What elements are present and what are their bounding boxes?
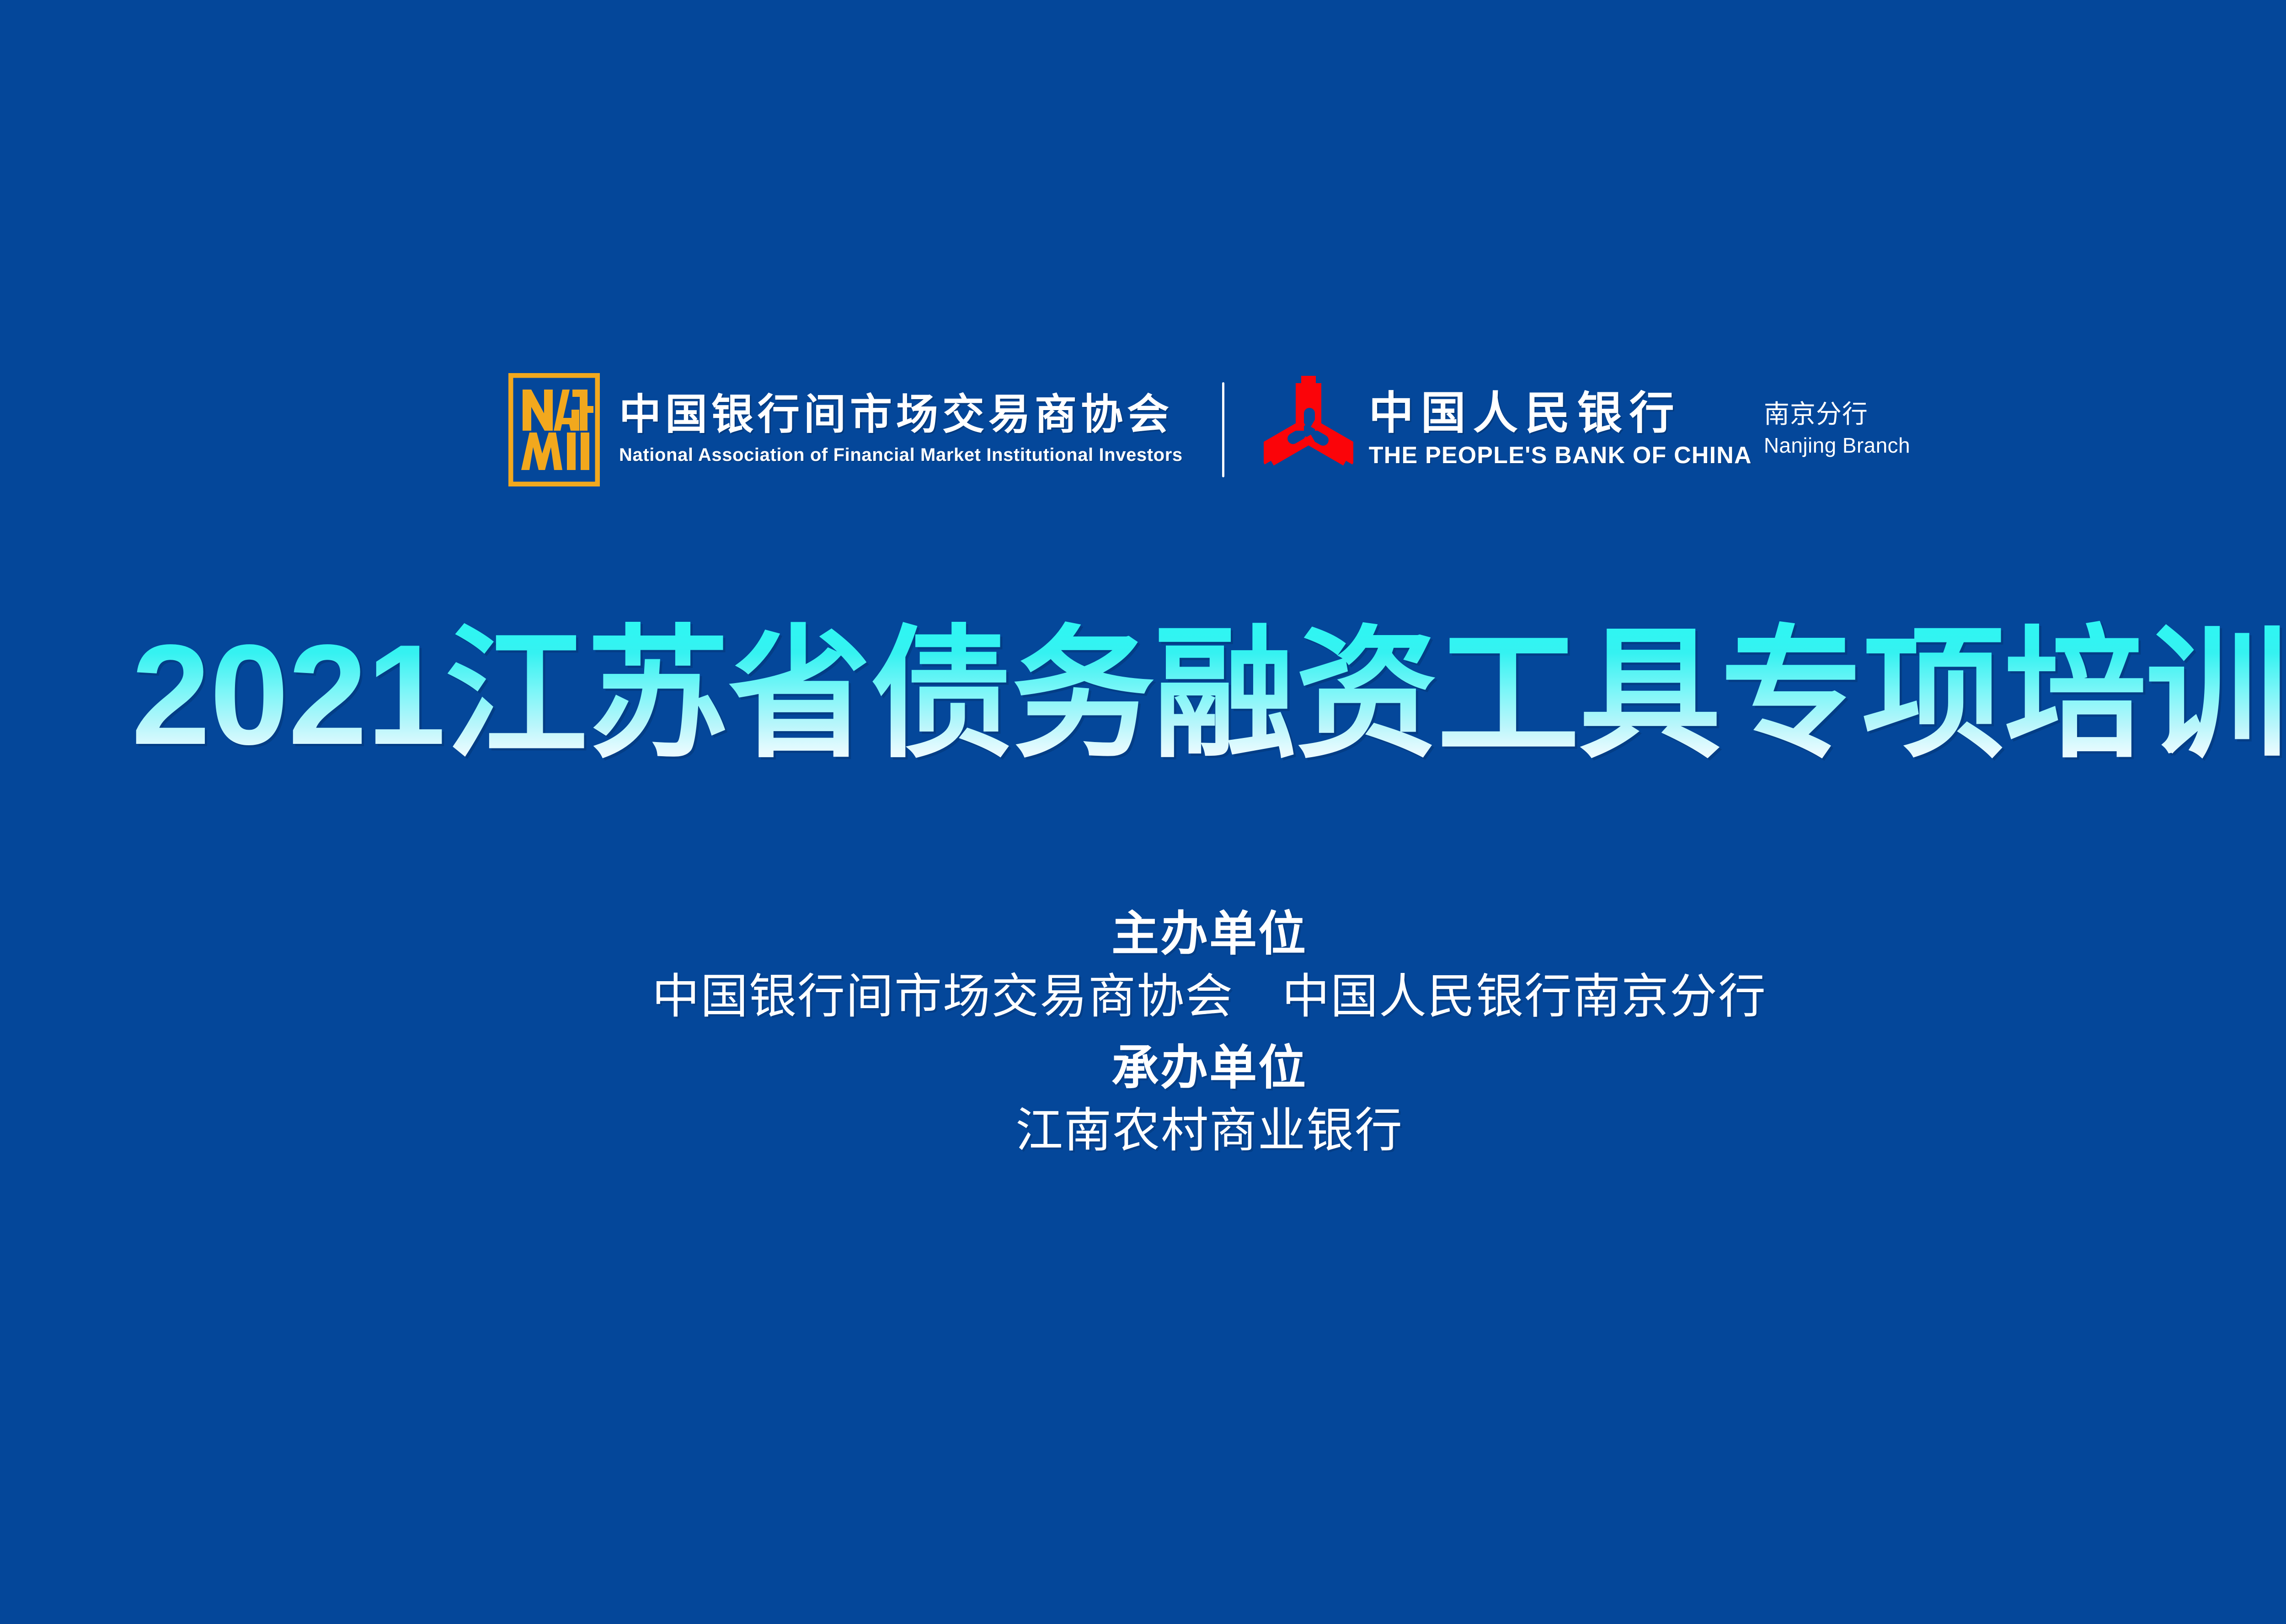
pboc-branch-block: 南京分行 Nanjing Branch [1764, 400, 1910, 460]
pboc-emblem-icon [1264, 373, 1353, 486]
organisers-block: 主办单位 中国银行间市场交易商协会 中国人民银行南京分行 承办单位 江南农村商业… [0, 903, 2286, 1162]
pboc-branch-english: Nanjing Branch [1764, 433, 1910, 458]
organiser-heading: 承办单位 [0, 1037, 2286, 1100]
pboc-chinese-name: 中国人民银行 [1369, 390, 1752, 437]
poster-slide: 中国银行间市场交易商协会 National Association of Fin… [0, 0, 2286, 1624]
nafmii-english-name: National Association of Financial Market… [619, 443, 1183, 466]
logo-divider [1222, 382, 1224, 477]
nafmii-logo-icon [508, 373, 600, 486]
nafmii-wordmark: 中国银行间市场交易商协会 National Association of Fin… [619, 393, 1183, 466]
pboc-english-name: THE PEOPLE'S BANK OF CHINA [1369, 441, 1752, 470]
pboc-branch-chinese: 南京分行 [1764, 400, 1910, 429]
logo-band: 中国银行间市场交易商协会 National Association of Fin… [0, 361, 2286, 498]
pboc-wordmark: 中国人民银行 THE PEOPLE'S BANK OF CHINA [1369, 390, 1752, 470]
host-heading: 主办单位 [0, 903, 2286, 966]
organiser-organisations: 江南农村商业银行 [0, 1100, 2286, 1162]
main-title-wrap: 2021江苏省债务融资工具专项培训 [0, 606, 2286, 784]
page-title: 2021江苏省债务融资工具专项培训 [131, 620, 2286, 771]
logo-group: 中国银行间市场交易商协会 National Association of Fin… [508, 373, 1910, 486]
nafmii-chinese-name: 中国银行间市场交易商协会 [619, 393, 1183, 437]
host-organisations: 中国银行间市场交易商协会 中国人民银行南京分行 [0, 966, 2286, 1028]
